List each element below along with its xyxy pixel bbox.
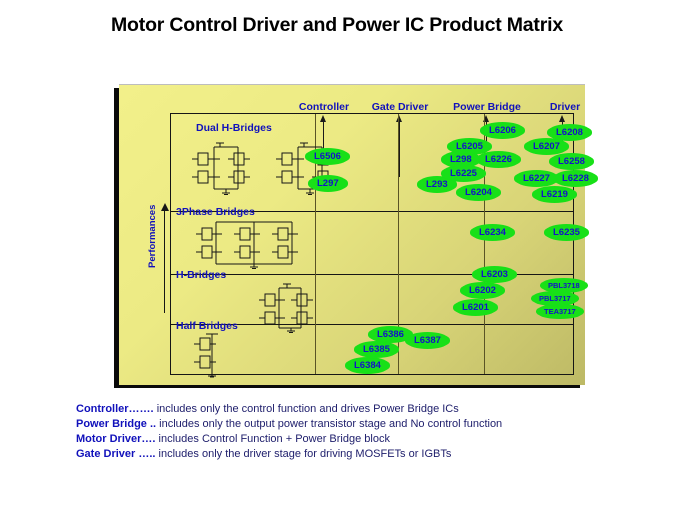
legend-row-controller: Controller……. includes only the control … [76, 402, 636, 417]
part-label[interactable]: L6384 [348, 359, 387, 372]
legend-term: Gate Driver ….. [76, 448, 155, 460]
row-label-dual-h-bridges: Dual H-Bridges [196, 122, 272, 134]
legend-term: Controller……. [76, 403, 154, 415]
page-title: Motor Control Driver and Power IC Produc… [0, 14, 674, 37]
part-label[interactable]: PBL3717 [534, 293, 576, 304]
column-header-driver: Driver [535, 101, 595, 113]
part-label[interactable]: L6204 [459, 186, 498, 199]
part-label[interactable]: L6202 [463, 284, 502, 297]
legend-row-power-bridge: Power Bridge .. includes only the output… [76, 417, 636, 432]
legend-row-motor-driver: Motor Driver…. includes Control Function… [76, 432, 636, 447]
legend-term: Motor Driver…. [76, 433, 155, 445]
part-label[interactable]: L6258 [552, 155, 591, 168]
part-label[interactable]: L6386 [371, 328, 410, 341]
part-label[interactable]: L6228 [556, 172, 595, 185]
part-label[interactable]: L6206 [483, 124, 522, 137]
part-label[interactable]: L6385 [357, 343, 396, 356]
part-label[interactable]: L6234 [473, 226, 512, 239]
row-label-3phase-bridges: 3Phase Bridges [176, 206, 255, 218]
circuit-symbol-3phase-bridge [192, 220, 310, 270]
legend-description: includes only the output power transisto… [159, 418, 502, 430]
column-header-power-bridge: Power Bridge [441, 101, 533, 113]
part-label[interactable]: L6235 [547, 226, 586, 239]
column-divider-3 [484, 114, 485, 374]
circuit-symbol-half-bridge [190, 332, 224, 378]
legend-description: includes only the control function and d… [157, 403, 459, 415]
part-label[interactable]: L6201 [456, 301, 495, 314]
part-label[interactable]: L6208 [550, 126, 589, 139]
slide-canvas: Motor Control Driver and Power IC Produc… [0, 0, 674, 506]
part-label[interactable]: L6506 [308, 150, 347, 163]
legend-term: Power Bridge .. [76, 418, 156, 430]
part-label[interactable]: L6227 [517, 172, 556, 185]
legend-description: includes only the driver stage for drivi… [159, 448, 452, 460]
part-label[interactable]: L297 [311, 177, 345, 190]
part-label[interactable]: L6226 [479, 153, 518, 166]
part-label[interactable]: L6219 [535, 188, 574, 201]
legend: Controller……. includes only the control … [76, 402, 636, 462]
part-label[interactable]: L293 [420, 178, 454, 191]
part-label[interactable]: L6225 [444, 167, 483, 180]
part-label[interactable]: L6387 [408, 334, 447, 347]
circuit-symbol-h-bridge [255, 280, 317, 334]
row-label-h-bridges: H-Bridges [176, 269, 226, 281]
column-header-gate-driver: Gate Driver [361, 101, 439, 113]
part-label[interactable]: PBL3718 [543, 280, 585, 291]
column-header-controller: Controller [288, 101, 360, 113]
part-label[interactable]: L6205 [450, 140, 489, 153]
legend-row-gate-driver: Gate Driver ….. includes only the driver… [76, 447, 636, 462]
performances-axis-label: Performances [147, 205, 158, 268]
part-label[interactable]: L298 [444, 153, 478, 166]
row-label-half-bridges: Half Bridges [176, 320, 238, 332]
part-label[interactable]: L6203 [475, 268, 514, 281]
part-label[interactable]: TEA3717 [539, 306, 581, 317]
part-label[interactable]: L6207 [527, 140, 566, 153]
legend-description: includes Control Function + Power Bridge… [159, 433, 390, 445]
arrow-shaft [164, 209, 165, 313]
